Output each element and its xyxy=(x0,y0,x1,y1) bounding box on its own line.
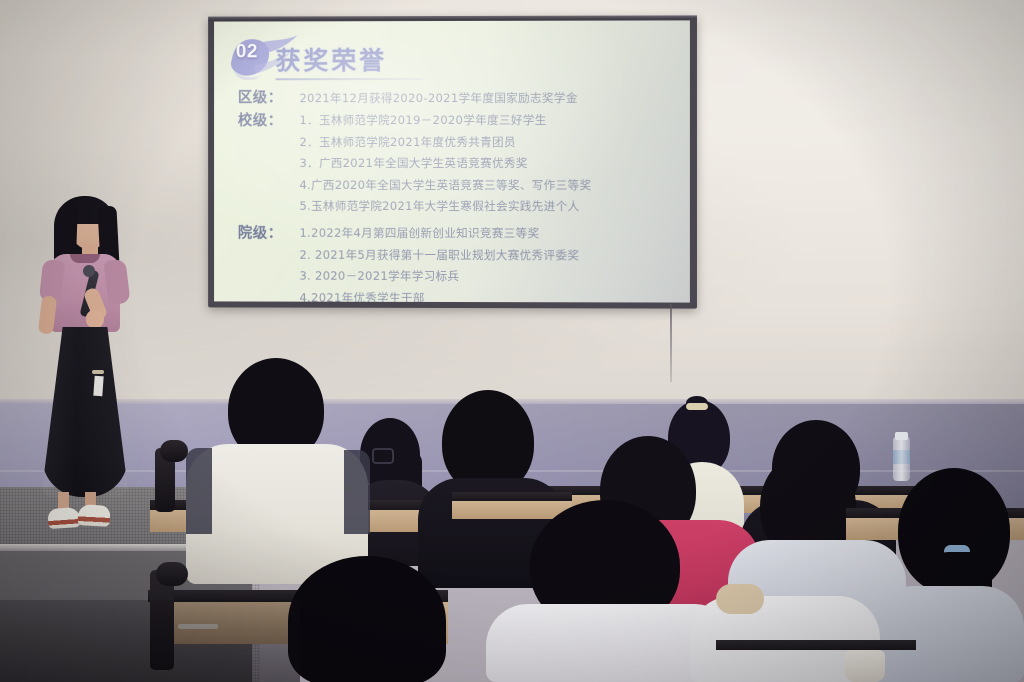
row-items-district: 2021年12月获得2020-2021学年度国家励志奖学金 xyxy=(295,87,663,109)
water-bottle-cap xyxy=(895,432,908,440)
row-label-college: 院级： xyxy=(238,223,296,245)
hair-tie xyxy=(686,403,708,410)
shoulder-bag-strap xyxy=(716,584,764,614)
desk-label xyxy=(178,624,218,629)
list-item: 3. 2020－2021学年学习标兵 xyxy=(299,266,663,288)
slide-row-district: 区级： 2021年12月获得2020-2021学年度国家励志奖学金 xyxy=(238,87,664,109)
list-item: 2. 2021年5月获得第十一届职业规划大赛优秀评委奖 xyxy=(299,244,663,266)
presenter xyxy=(30,192,138,537)
paper-cup xyxy=(845,650,885,682)
glasses-icon xyxy=(372,448,394,464)
list-item: 4.2021年优秀学生干部 xyxy=(299,287,663,302)
list-item: 2021年12月获得2020-2021学年度国家励志奖学金 xyxy=(299,87,663,109)
water-bottle-label xyxy=(893,450,910,464)
row-label-school: 校级： xyxy=(238,110,296,132)
screen-surface: 02 获奖荣誉 区级： 2021年12月获得2020-2021学年度国家励志奖学… xyxy=(214,20,690,302)
presenter-paper xyxy=(93,376,103,397)
screen-cable xyxy=(670,304,672,382)
list-item: 2．玉林师范学院2021年度优秀共青团员 xyxy=(299,131,663,153)
slide-row-school: 校级： 1．玉林师范学院2019－2020学年度三好学生 2．玉林师范学院202… xyxy=(238,110,664,218)
slide-title-underline xyxy=(276,78,423,80)
slide-title: 获奖荣誉 xyxy=(276,41,388,77)
presenter-skirt-shading xyxy=(42,327,128,497)
row-items-school: 1．玉林师范学院2019－2020学年度三好学生 2．玉林师范学院2021年度优… xyxy=(295,110,663,218)
presenter-sleeve-right xyxy=(103,259,130,305)
seat-cap-front-left xyxy=(156,562,188,586)
list-item: 1.2022年4月第四届创新创业知识竞赛三等奖 xyxy=(299,223,663,245)
desk-edge-front-right xyxy=(716,640,916,650)
row-items-college: 1.2022年4月第四届创新创业知识竞赛三等奖 2. 2021年5月获得第十一届… xyxy=(295,223,663,303)
list-item: 3．广西2021年全国大学生英语竞赛优秀奖 xyxy=(299,153,663,175)
desk-edge-mid-center xyxy=(452,492,572,501)
slide-row-college: 院级： 1.2022年4月第四届创新创业知识竞赛三等奖 2. 2021年5月获得… xyxy=(238,223,664,303)
shirt-shoulder-right xyxy=(344,450,370,534)
row-label-district: 区级： xyxy=(238,87,296,109)
presenter-collar xyxy=(70,254,100,263)
presenter-shoe-right xyxy=(77,504,110,527)
seat-cap-left xyxy=(160,440,188,462)
presenter-hand-holding-mic xyxy=(86,310,104,328)
projection-screen: 02 获奖荣誉 区级： 2021年12月获得2020-2021学年度国家励志奖学… xyxy=(208,15,697,308)
list-item: 1．玉林师范学院2019－2020学年度三好学生 xyxy=(299,110,663,132)
slide-section-number: 02 xyxy=(236,41,258,63)
head xyxy=(288,556,446,682)
presenter-shoe-left xyxy=(47,507,80,529)
slide-content: 02 获奖荣誉 区级： 2021年12月获得2020-2021学年度国家励志奖学… xyxy=(214,20,690,302)
presenter-bracelet xyxy=(92,370,104,374)
torso xyxy=(872,586,1024,682)
microphone-head xyxy=(83,265,95,277)
list-item: 5.玉林师范学院2021年大学生寒假社会实践先进个人 xyxy=(299,196,663,218)
slide-body: 区级： 2021年12月获得2020-2021学年度国家励志奖学金 校级： 1．… xyxy=(238,87,664,303)
list-item: 4.广西2020年全国大学生英语竞赛三等奖、写作三等奖 xyxy=(299,175,663,197)
shirt-shoulder-left xyxy=(186,448,212,534)
lecture-hall-photo: 02 获奖荣誉 区级： 2021年12月获得2020-2021学年度国家励志奖学… xyxy=(0,0,1024,682)
